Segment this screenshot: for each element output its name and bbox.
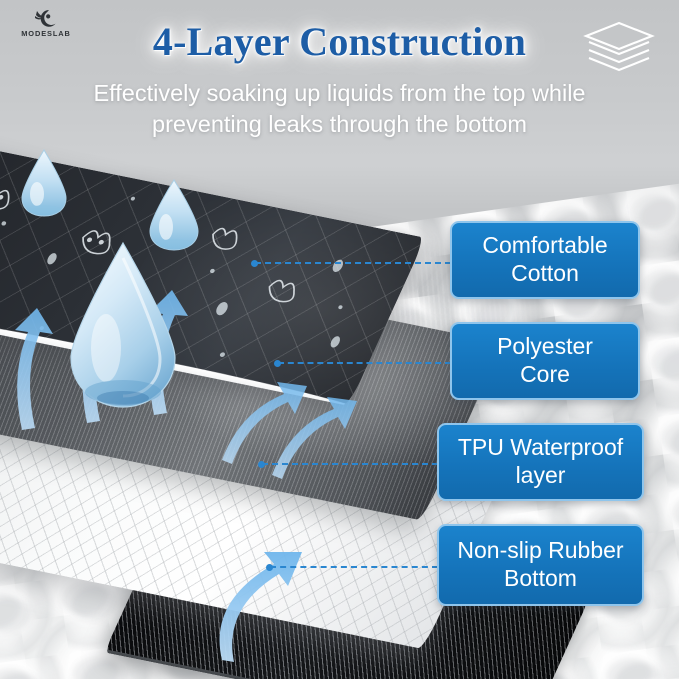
callout-non-slip-rubber-bottom[interactable]: Non-slip Rubber Bottom	[437, 524, 644, 606]
callout-connector-line-cotton	[255, 262, 451, 264]
callout-polyester-core[interactable]: Polyester Core	[450, 322, 640, 400]
callout-connector-line-polyester	[278, 362, 451, 364]
callout-connector-line-tpu	[262, 463, 438, 465]
water-droplet-icon	[62, 240, 184, 412]
water-droplet-icon	[18, 148, 70, 218]
layers-stack-icon	[581, 20, 657, 76]
callout-line-2: layer	[516, 462, 566, 488]
subtitle-line-1: Effectively soaking up liquids from the …	[38, 78, 641, 109]
subtitle-line-2: preventing leaks through the bottom	[38, 109, 641, 140]
callout-line-1: Non-slip Rubber	[457, 537, 623, 563]
callout-line-1: Comfortable	[482, 232, 607, 258]
callout-comfortable-cotton[interactable]: Comfortable Cotton	[450, 221, 640, 299]
callout-line-2: Cotton	[511, 260, 579, 286]
infographic-canvas: MODESLAB 4-Layer Construction Effectivel…	[0, 0, 679, 679]
callout-line-2: Bottom	[504, 565, 577, 591]
page-subtitle: Effectively soaking up liquids from the …	[38, 78, 641, 140]
page-title: 4-Layer Construction	[0, 18, 679, 65]
callout-line-1: TPU Waterproof	[458, 434, 623, 460]
callout-connector-line-rubber	[270, 566, 438, 568]
callout-tpu-waterproof-layer[interactable]: TPU Waterproof layer	[437, 423, 644, 501]
callout-line-2: Core	[520, 361, 570, 387]
callout-line-1: Polyester	[497, 333, 593, 359]
